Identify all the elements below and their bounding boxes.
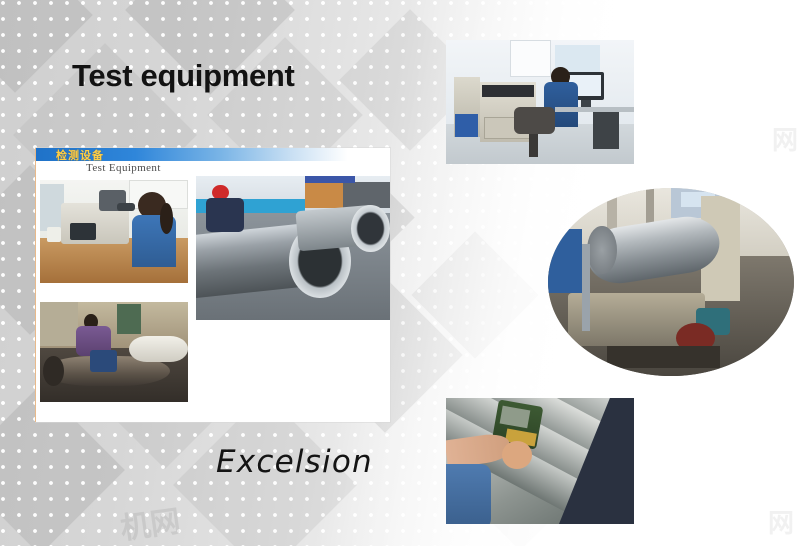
photo-steel-sleeves [196, 176, 390, 320]
photo-roll-grinder [548, 188, 794, 376]
photo-lab-spectrometer-image [446, 40, 634, 164]
photo-roll-measuring [446, 398, 634, 524]
panel-header-chinese-label: 检测设备 [56, 147, 104, 163]
photo-microscope [40, 180, 188, 283]
photo-lab-spectrometer [446, 40, 634, 164]
photo-roll-measuring-image [446, 398, 634, 524]
watermark-right: 网 [772, 120, 798, 157]
panel-header-english-label: Test Equipment [86, 162, 161, 174]
brand-wordmark: Excelsion [216, 444, 373, 480]
slide-canvas: 机网 网 网 Test equipment 检测设备 Test Equipmen… [0, 0, 800, 546]
photo-microscope-image [40, 180, 188, 283]
photo-roll-inspection [40, 302, 188, 402]
page-title: Test equipment [72, 58, 295, 94]
photo-roll-grinder-image [548, 188, 794, 376]
watermark-bottom-left: 机网 [117, 496, 183, 546]
photo-steel-sleeves-image [196, 176, 390, 320]
panel-header-bar: 检测设备 [36, 148, 390, 161]
photo-roll-inspection-image [40, 302, 188, 402]
watermark-bottom-right: 网 [768, 503, 794, 540]
